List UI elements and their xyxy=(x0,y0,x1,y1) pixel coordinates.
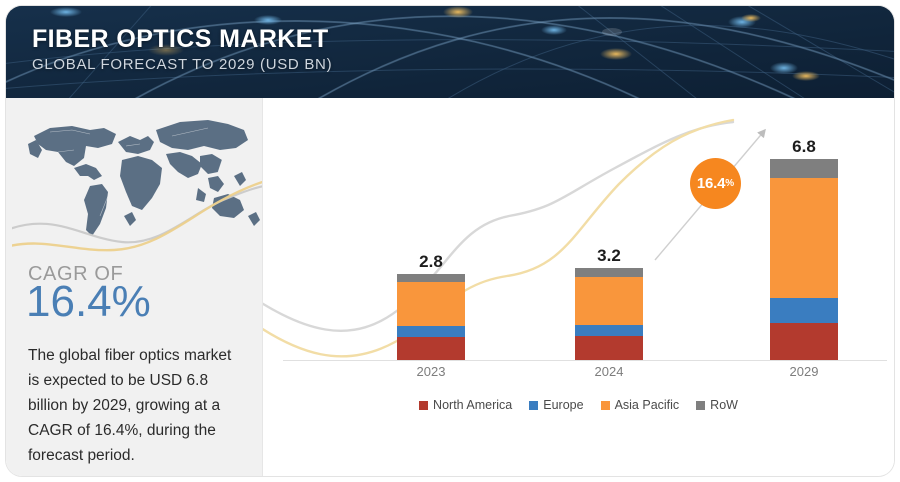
bar-total-2023: 2.8 xyxy=(397,252,465,272)
bar-total-2024: 3.2 xyxy=(575,246,643,266)
cagr-callout-unit: % xyxy=(725,178,734,189)
legend-label-asia-pacific: Asia Pacific xyxy=(615,398,680,412)
segment-asia-pacific-2023 xyxy=(397,282,465,326)
sidebar-description: The global fiber optics market is expect… xyxy=(28,343,246,469)
legend-item-north-america[interactable]: North America xyxy=(419,398,512,412)
segment-row-2029 xyxy=(770,159,838,178)
segment-asia-pacific-2024 xyxy=(575,277,643,325)
segment-asia-pacific-2029 xyxy=(770,178,838,298)
legend-swatch-europe xyxy=(529,401,538,410)
legend-item-row[interactable]: RoW xyxy=(696,398,738,412)
segment-north-america-2024 xyxy=(575,336,643,360)
segment-row-2023 xyxy=(397,274,465,282)
legend-item-asia-pacific[interactable]: Asia Pacific xyxy=(601,398,680,412)
infographic-root: FIBER OPTICS MARKET GLOBAL FORECAST TO 2… xyxy=(0,0,900,482)
cagr-value: 16.4% xyxy=(26,280,151,324)
legend-item-europe[interactable]: Europe xyxy=(529,398,583,412)
legend-swatch-asia-pacific xyxy=(601,401,610,410)
infographic-card: FIBER OPTICS MARKET GLOBAL FORECAST TO 2… xyxy=(6,6,894,476)
page-title: FIBER OPTICS MARKET xyxy=(32,26,332,52)
world-map-icon xyxy=(12,106,262,256)
cagr-callout-value: 16.4 xyxy=(697,175,725,192)
chart-legend: North America Europe Asia Pacific RoW xyxy=(263,398,894,412)
segment-europe-2023 xyxy=(397,326,465,337)
x-tick-2024: 2024 xyxy=(575,364,643,379)
cagr-callout-bubble: 16.4% xyxy=(690,158,741,209)
legend-swatch-row xyxy=(696,401,705,410)
page-subtitle: GLOBAL FORECAST TO 2029 (USD BN) xyxy=(32,56,332,73)
bar-2023 xyxy=(397,274,465,360)
x-tick-2029: 2029 xyxy=(770,364,838,379)
legend-label-north-america: North America xyxy=(433,398,512,412)
x-axis-line xyxy=(283,360,887,361)
legend-label-row: RoW xyxy=(710,398,738,412)
bar-2029 xyxy=(770,159,838,360)
legend-label-europe: Europe xyxy=(543,398,583,412)
header-text-block: FIBER OPTICS MARKET GLOBAL FORECAST TO 2… xyxy=(32,26,332,73)
segment-north-america-2029 xyxy=(770,323,838,360)
x-tick-2023: 2023 xyxy=(397,364,465,379)
segment-europe-2024 xyxy=(575,325,643,336)
header-banner: FIBER OPTICS MARKET GLOBAL FORECAST TO 2… xyxy=(6,6,894,98)
bar-total-2029: 6.8 xyxy=(770,137,838,157)
content-area: CAGR OF 16.4% The global fiber optics ma… xyxy=(6,98,894,476)
bar-2024 xyxy=(575,268,643,360)
chart-panel: 2.8 2023 3.2 2024 6.8 xyxy=(263,98,894,476)
legend-swatch-north-america xyxy=(419,401,428,410)
segment-row-2024 xyxy=(575,268,643,277)
segment-north-america-2023 xyxy=(397,337,465,360)
segment-europe-2029 xyxy=(770,298,838,323)
sidebar-panel: CAGR OF 16.4% The global fiber optics ma… xyxy=(6,98,263,476)
